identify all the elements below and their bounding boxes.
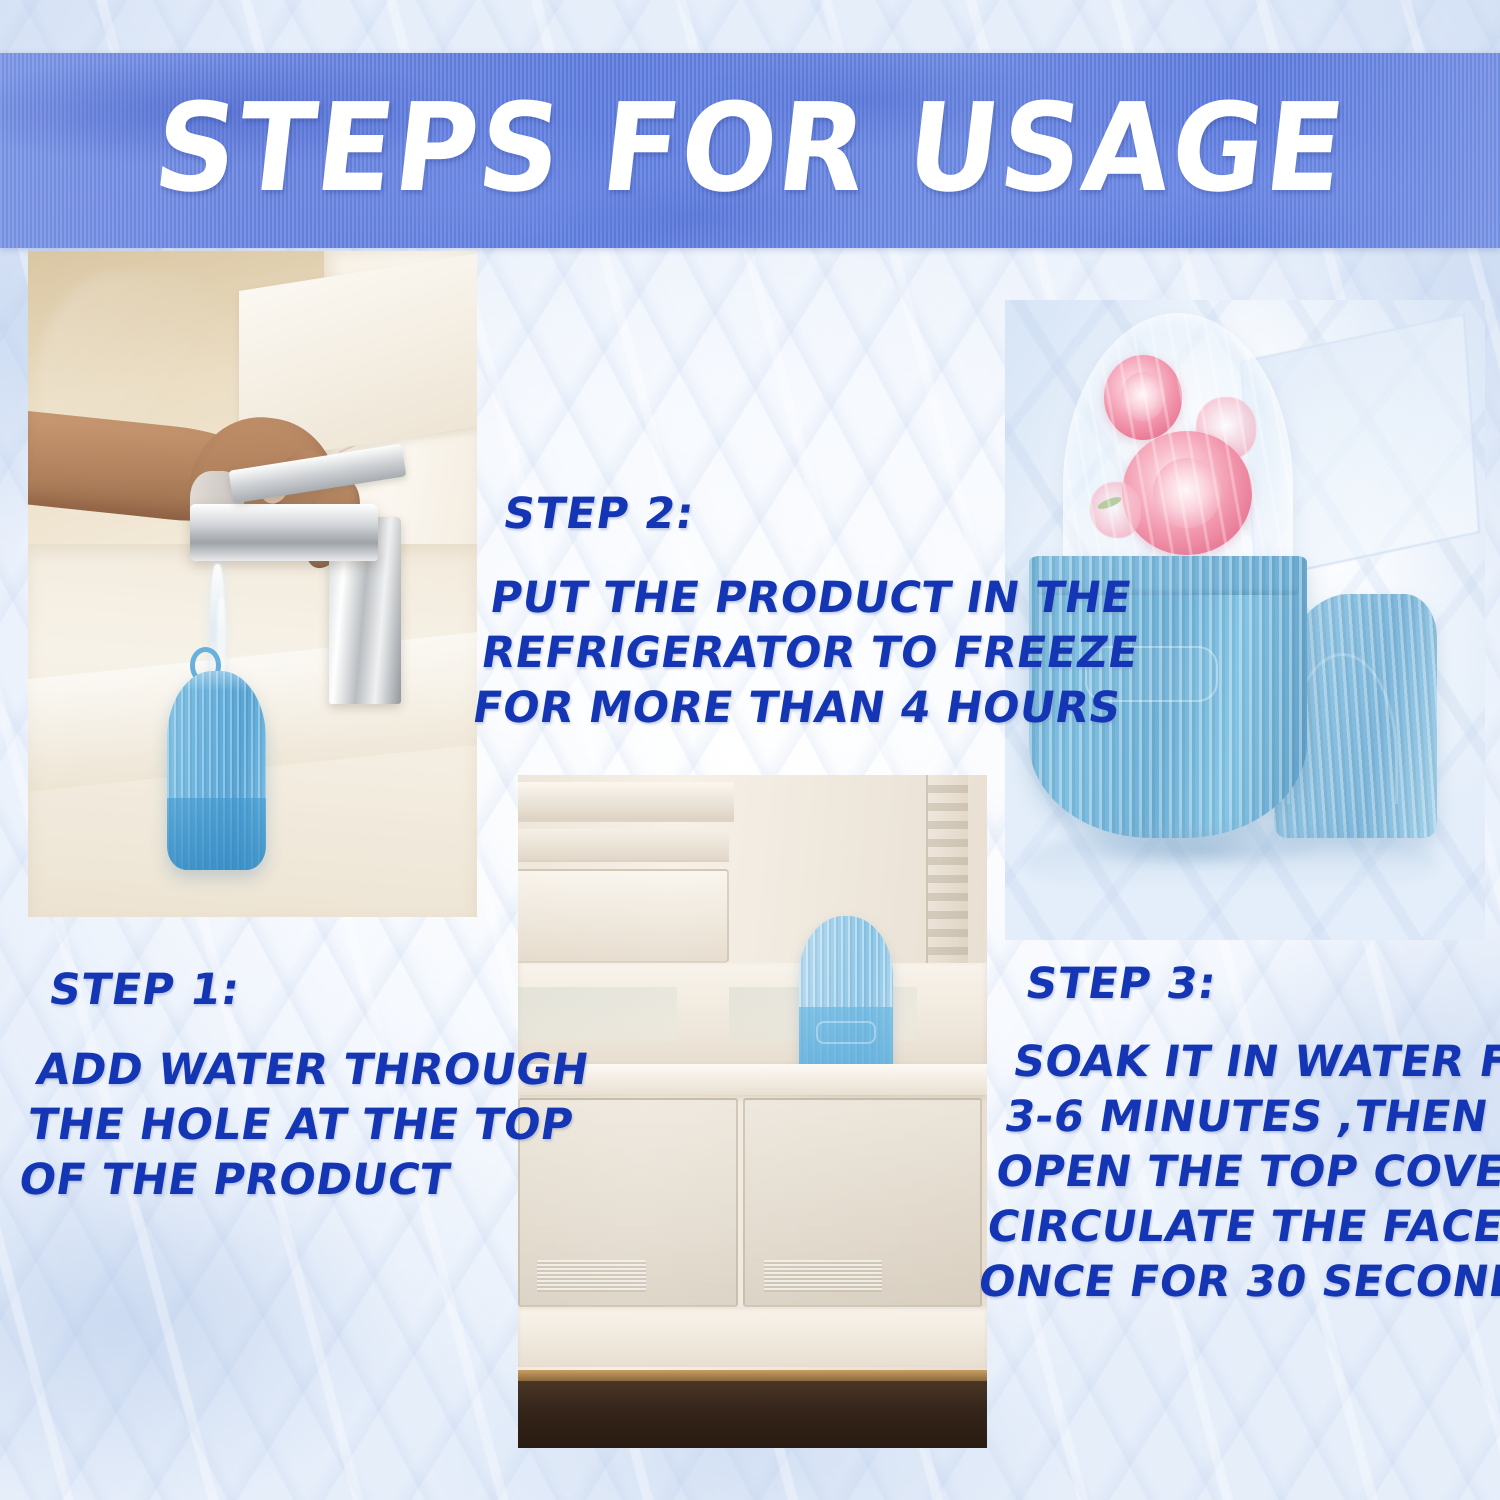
product-shadow (1034, 825, 1370, 876)
step-3-line-4: CIRCULATE THE FACE (983, 1200, 1500, 1255)
ice-roller-lower-band (167, 798, 266, 870)
drawer-vent-grill (764, 1260, 882, 1293)
step-2-line-2: REFRIGERATOR TO FREEZE (477, 626, 1142, 681)
step-2-text-block: STEP 2: PUT THE PRODUCT IN THE REFRIGERA… (469, 492, 1164, 736)
step-3-line-5: ONCE FOR 30 SECONDS. (974, 1255, 1500, 1310)
fridge-bottom-ledge (518, 1307, 987, 1368)
fridge-base-trim (518, 1370, 987, 1381)
fridge-crisper-drawer-right (743, 1098, 982, 1307)
step-3-text-block: STEP 3: SOAK IT IN WATER FOR 3-6 MINUTES… (974, 962, 1500, 1310)
step-2-line-1: PUT THE PRODUCT IN THE (486, 571, 1151, 626)
ice-roller-plate (816, 1021, 876, 1045)
step-1-line-2: THE HOLE AT THE TOP (24, 1098, 584, 1153)
fridge-upper-rail-secondary (518, 829, 729, 863)
step-3-heading: STEP 3: (1022, 962, 1500, 1007)
drawer-vent-grill (537, 1260, 645, 1293)
refrigerator-photo (518, 775, 987, 1448)
ice-roller-top-highlight (167, 671, 266, 691)
step-1-body: ADD WATER THROUGH THE HOLE AT THE TOP OF… (15, 1043, 593, 1208)
step-3-line-2: 3-6 MINUTES ,THEN (1001, 1090, 1500, 1145)
step-1-line-3: OF THE PRODUCT (15, 1153, 575, 1208)
step-2-body: PUT THE PRODUCT IN THE REFRIGERATOR TO F… (469, 571, 1151, 736)
fridge-base-dark (518, 1381, 987, 1448)
step-3-line-3: OPEN THE TOP COVER. (992, 1145, 1500, 1200)
step-1-text-block: STEP 1: ADD WATER THROUGH THE HOLE AT TH… (15, 968, 605, 1208)
infographic-page: STEPS FOR USAGE (0, 0, 1500, 1500)
step-3-body: SOAK IT IN WATER FOR 3-6 MINUTES ,THEN O… (974, 1035, 1500, 1310)
page-title: STEPS FOR USAGE (49, 53, 1451, 248)
ice-roller-product (167, 671, 266, 871)
fridge-upper-rail (518, 782, 734, 822)
step-3-line-1: SOAK IT IN WATER FOR (1009, 1035, 1500, 1090)
fridge-top-bin (518, 869, 729, 963)
step-2-heading: STEP 2: (500, 492, 1163, 537)
header-banner: STEPS FOR USAGE (0, 53, 1500, 248)
step-1-heading: STEP 1: (46, 968, 605, 1013)
faucet-spout (190, 504, 379, 561)
ice-roller-product-in-fridge (799, 916, 893, 1084)
step-1-line-1: ADD WATER THROUGH (32, 1043, 592, 1098)
step-2-line-3: FOR MORE THAN 4 HOURS (469, 681, 1134, 736)
faucet-photo (28, 251, 477, 917)
